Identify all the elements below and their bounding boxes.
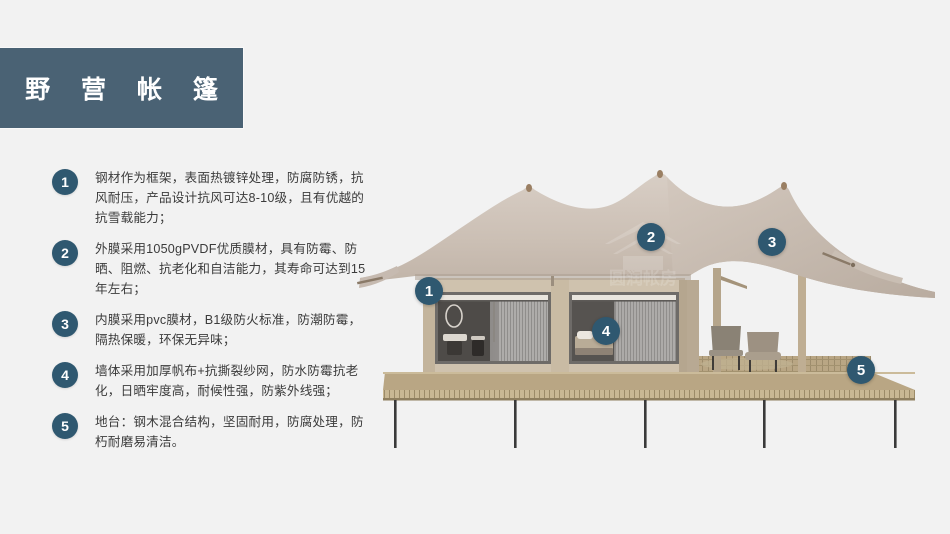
feature-item-4: 4 墙体采用加厚帆布+抗撕裂纱网，防水防霉抗老化，日晒牢度高，耐候性强，防紫外线…	[52, 361, 372, 401]
bedroom-curtain	[615, 296, 676, 361]
tent-marker-3[interactable]: 3	[758, 228, 786, 256]
bathroom-toilet-lid	[471, 336, 485, 340]
feature-item-2: 2 外膜采用1050gPVDF优质膜材，具有防霉、防晒、阻燃、抗老化和自洁能力，…	[52, 239, 372, 299]
cabin-corner-post-right	[679, 280, 687, 372]
deck-support-leg-2	[514, 400, 517, 448]
lounge-chair-2-seat	[745, 352, 781, 360]
feature-item-5: 5 地台：钢木混合结构，坚固耐用，防腐处理，防朽耐磨易清洁。	[52, 412, 372, 452]
feature-list: 1 钢材作为框架，表面热镀锌处理，防腐防锈，抗风耐压，产品设计抗风可达8-10级…	[52, 168, 372, 452]
feature-item-3: 3 内膜采用pvc膜材，B1级防火标准，防潮防霉，隔热保暖，环保无异味；	[52, 310, 372, 350]
deck-plank-edge	[383, 390, 915, 399]
feature-badge-1: 1	[52, 169, 78, 195]
lounge-chair-2-leg-a	[749, 360, 751, 372]
feature-text-5: 地台：钢木混合结构，坚固耐用，防腐处理，防朽耐磨易清洁。	[95, 412, 367, 452]
feature-badge-3: 3	[52, 311, 78, 337]
feature-badge-5: 5	[52, 413, 78, 439]
page-title: 野 营 帐 篷	[13, 70, 230, 106]
canopy-peak-tip-left	[526, 184, 532, 192]
room-window-bedroom	[569, 292, 679, 364]
bathroom-rail-shadow	[438, 300, 548, 302]
tent-marker-4[interactable]: 4	[592, 317, 620, 345]
deck-support-leg-5	[894, 400, 897, 448]
terrace-column-right	[798, 262, 806, 372]
bedroom-bed-base	[575, 348, 613, 355]
terrace-brace-left	[721, 276, 747, 289]
deck-support-leg-1	[394, 400, 397, 448]
lounge-chair-1-leg-a	[712, 356, 714, 370]
feature-item-1: 1 钢材作为框架，表面热镀锌处理，防腐防锈，抗风耐压，产品设计抗风可达8-10级…	[52, 168, 372, 228]
canopy-tension-fitting	[851, 263, 855, 267]
cabin-side-wall	[685, 280, 699, 372]
deck-support-leg-3	[644, 400, 647, 448]
bathroom-curtain	[499, 296, 548, 361]
bathroom-basin	[443, 334, 467, 341]
canopy-center-tension-cord	[551, 276, 554, 286]
terrace-column-left	[713, 268, 721, 372]
deck-edge-shadow	[383, 398, 915, 401]
cabin-center-post	[551, 278, 569, 372]
bedroom-pillow	[577, 331, 593, 339]
feature-text-1: 钢材作为框架，表面热镀锌处理，防腐防锈，抗风耐压，产品设计抗风可达8-10级，且…	[95, 168, 367, 228]
lounge-chair-1-seat	[709, 350, 743, 356]
feature-text-3: 内膜采用pvc膜材，B1级防火标准，防潮防霉，隔热保暖，环保无异味；	[95, 310, 367, 350]
tent-illustration: 圆润帐房	[355, 150, 940, 450]
deck-top-edge	[383, 372, 915, 374]
tent-illustration-svg: 圆润帐房	[355, 150, 940, 450]
room-window-bathroom	[435, 292, 551, 364]
page-title-banner: 野 营 帐 篷	[0, 48, 243, 128]
lounge-chair-1-leg-b	[738, 356, 740, 370]
tent-marker-1[interactable]: 1	[415, 277, 443, 305]
canopy-peak-tip-right	[781, 182, 787, 190]
deck-support-leg-4	[763, 400, 766, 448]
bedroom-rail-shadow	[572, 300, 676, 302]
watermark-base-shape	[623, 256, 663, 270]
feature-text-4: 墙体采用加厚帆布+抗撕裂纱网，防水防霉抗老化，日晒牢度高，耐候性强，防紫外线强；	[95, 361, 367, 401]
lounge-chair-2-leg-b	[775, 360, 777, 372]
canopy-peak-tip-center	[657, 170, 663, 178]
bathroom-vanity-cabinet	[447, 341, 462, 355]
tent-marker-2[interactable]: 2	[637, 223, 665, 251]
tent-marker-5[interactable]: 5	[847, 356, 875, 384]
feature-badge-2: 2	[52, 240, 78, 266]
watermark-text: 圆润帐房	[609, 268, 677, 288]
bathroom-shower-pole	[493, 302, 495, 342]
feature-text-2: 外膜采用1050gPVDF优质膜材，具有防霉、防晒、阻燃、抗老化和自洁能力，其寿…	[95, 239, 367, 299]
feature-badge-4: 4	[52, 362, 78, 388]
deck-top-surface	[383, 372, 915, 390]
bathroom-toilet	[472, 340, 484, 356]
